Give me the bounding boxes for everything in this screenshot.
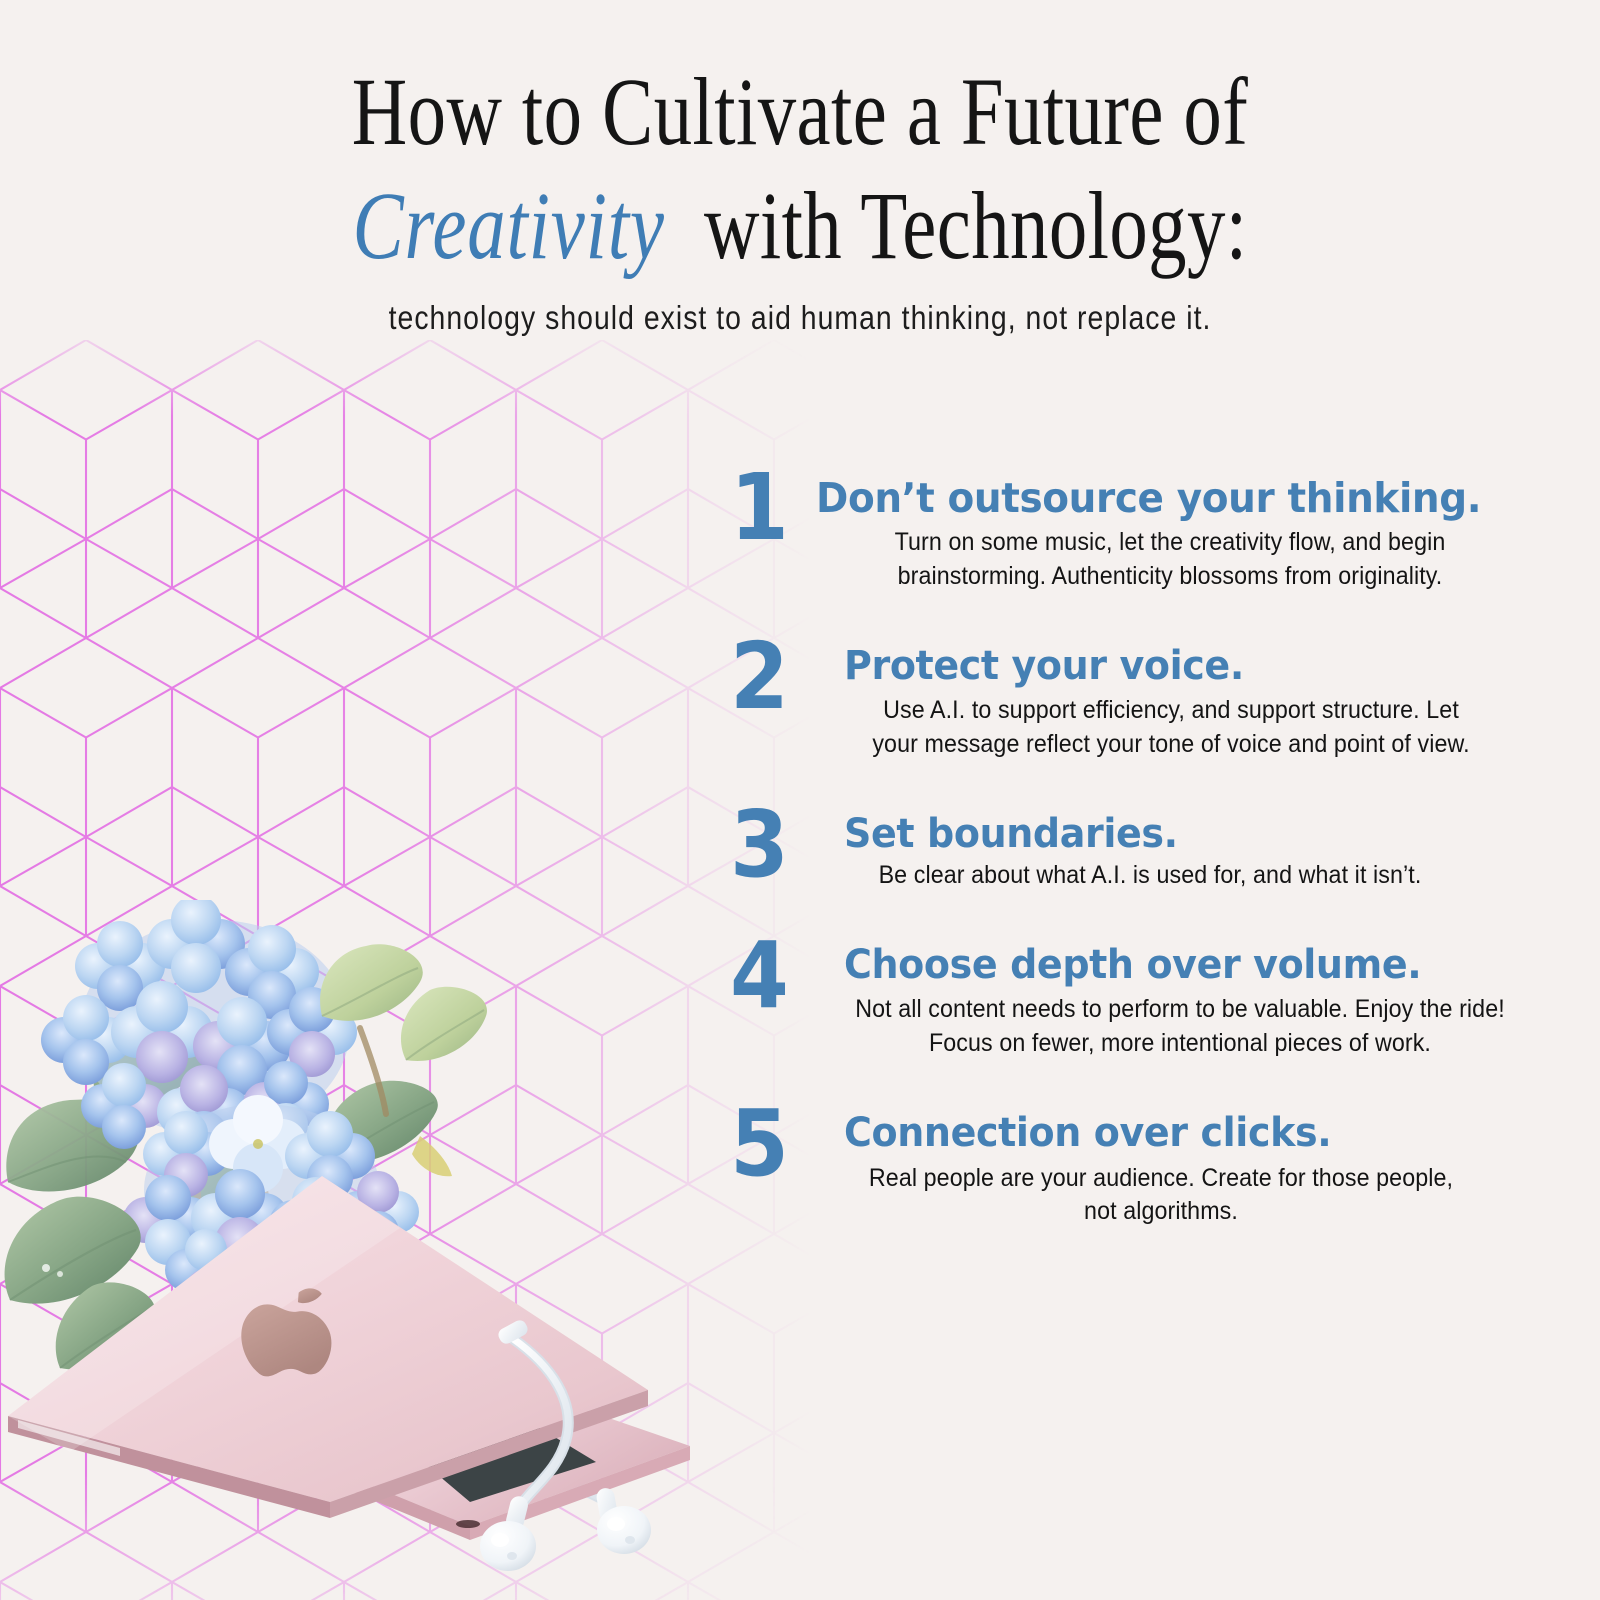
hydrangea-flower-lower	[123, 1095, 419, 1323]
list-item-heading: Set boundaries.	[844, 813, 1479, 856]
infographic-canvas: How to Cultivate a Future of Creativity …	[0, 0, 1600, 1600]
hydrangea-leaves-back	[6, 1014, 270, 1260]
list-item-number: 2	[730, 631, 788, 723]
page-title-accent-word: Creativity	[352, 172, 664, 279]
apple-logo-icon	[240, 1288, 333, 1377]
list-item: 3 Set boundaries. Be clear about what A.…	[712, 813, 1512, 892]
white-earbuds-cables	[463, 1338, 604, 1500]
list-item-number: 4	[730, 930, 788, 1022]
list-item-number: 1	[730, 462, 788, 554]
rose-gold-laptop	[8, 1176, 690, 1540]
page-title-line-2: Creativity with Technology:	[160, 172, 1440, 280]
list-item-body: Not all content needs to perform to be v…	[855, 993, 1506, 1060]
list-item-body: Be clear about what A.I. is used for, an…	[852, 859, 1447, 893]
list-item-number: 5	[730, 1098, 788, 1190]
tips-list: 1 Don’t outsource your thinking. Turn on…	[712, 476, 1512, 1229]
earbud-right	[597, 1506, 651, 1554]
white-earbuds	[480, 1318, 651, 1571]
list-item: 2 Protect your voice. Use A.I. to suppor…	[712, 645, 1512, 761]
page-title-line-2-suffix: with Technology:	[704, 172, 1248, 279]
earbud-left	[480, 1521, 536, 1571]
hydrangea-leaf-lower-left	[5, 1197, 156, 1370]
page-title-line-1: How to Cultivate a Future of	[160, 58, 1440, 166]
hydrangea-flower-upper	[41, 900, 357, 1159]
hydrangea-leaves-right	[320, 944, 487, 1176]
list-item-body: Real people are your audience. Create fo…	[859, 1162, 1464, 1229]
page-title-line-2-suffix-spacer	[665, 172, 704, 279]
page-subtitle: technology should exist to aid human thi…	[112, 299, 1488, 337]
list-item-body: Turn on some music, let the creativity f…	[835, 526, 1505, 593]
list-item: 5 Connection over clicks. Real people ar…	[712, 1112, 1512, 1228]
list-item-number: 3	[730, 799, 788, 891]
list-item-heading: Choose depth over volume.	[844, 944, 1479, 987]
list-item-heading: Protect your voice.	[844, 645, 1479, 688]
header-block: How to Cultivate a Future of Creativity …	[0, 58, 1600, 337]
list-item: 4 Choose depth over volume. Not all cont…	[712, 944, 1512, 1060]
list-item-heading: Don’t outsource your thinking.	[816, 476, 1477, 520]
product-collage	[0, 900, 800, 1600]
list-item-body: Use A.I. to support efficiency, and supp…	[859, 694, 1482, 761]
list-item-heading: Connection over clicks.	[844, 1112, 1479, 1155]
list-item: 1 Don’t outsource your thinking. Turn on…	[712, 476, 1512, 593]
